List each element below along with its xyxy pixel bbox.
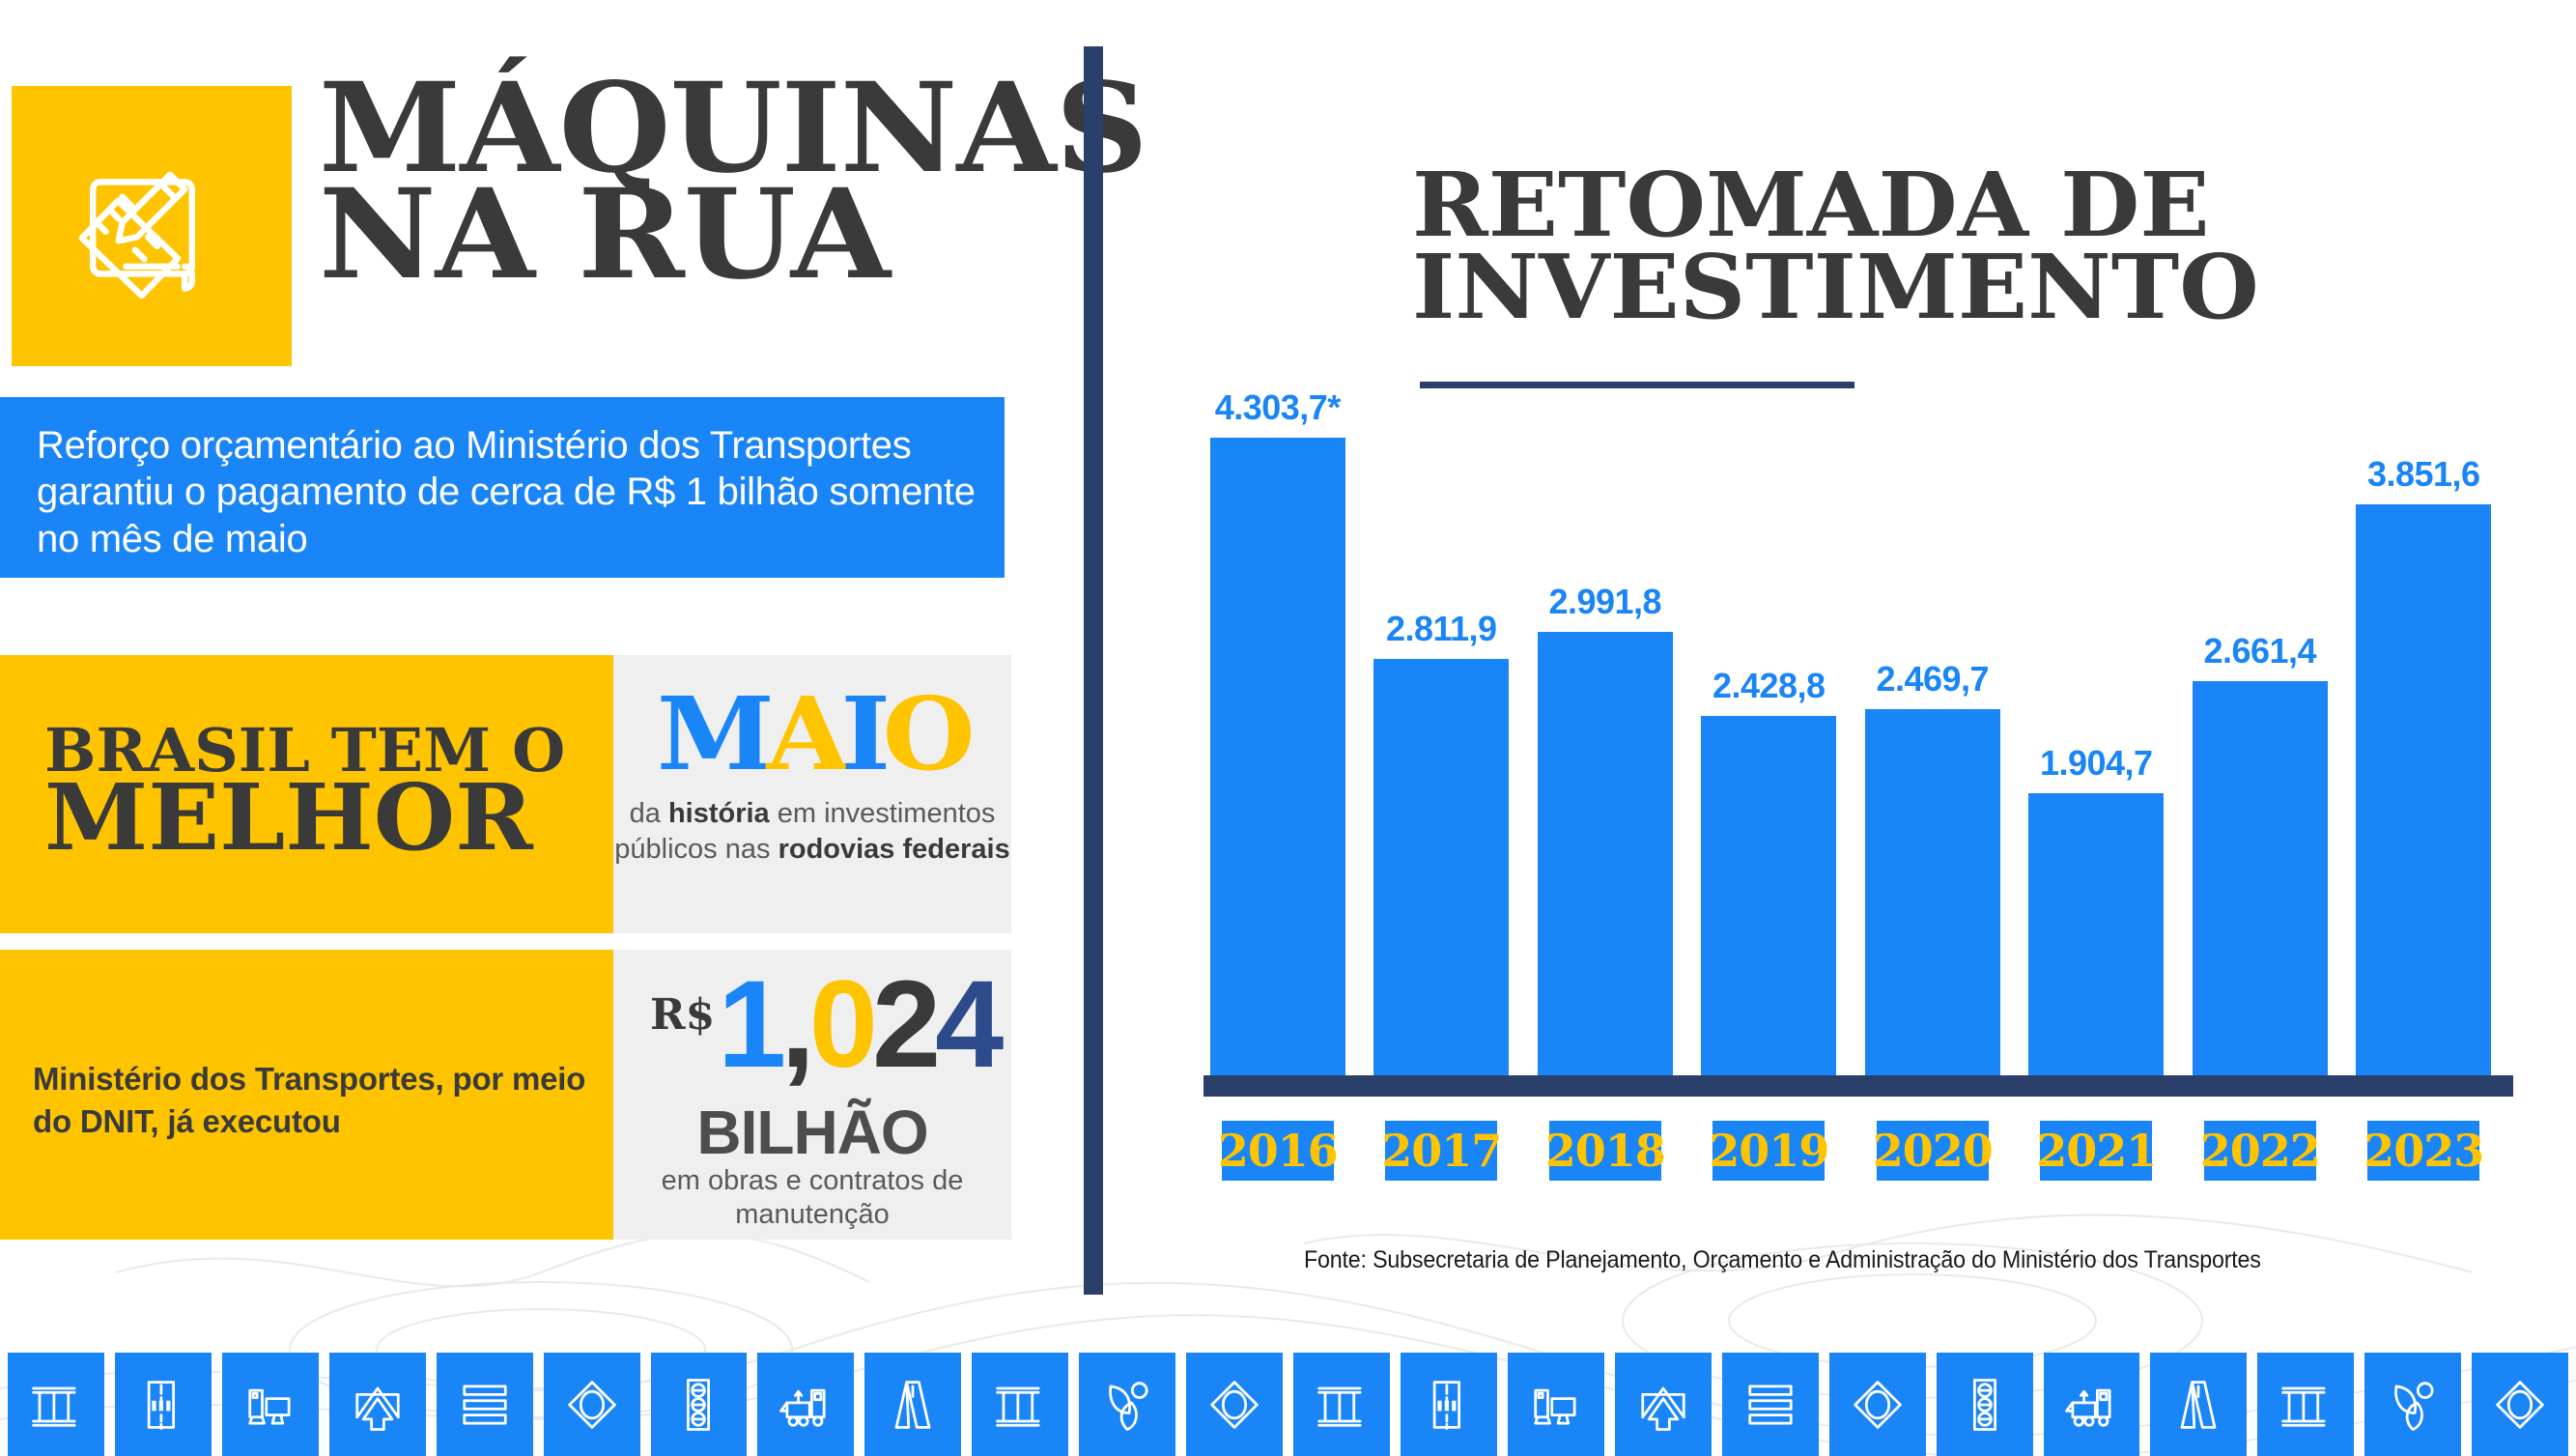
strip-cell-20 bbox=[2150, 1353, 2247, 1456]
maio-sub-bold-2: rodovias federais bbox=[778, 834, 1010, 865]
highlight-banner: Reforço orçamentário ao Ministério dos T… bbox=[0, 397, 1005, 578]
strip-cell-15 bbox=[1615, 1353, 1712, 1456]
bottom-icon-strip bbox=[0, 1353, 2576, 1456]
highlight-banner-text: Reforço orçamentário ao Ministério dos T… bbox=[0, 397, 1005, 562]
bar-value-label-2023: 3.851,6 bbox=[2327, 454, 2520, 495]
vertical-divider bbox=[1084, 46, 1103, 1295]
year-label-2019[interactable]: 2019 bbox=[1713, 1121, 1825, 1181]
ministerio-cell: Ministério dos Transportes, por meio do … bbox=[0, 950, 613, 1240]
bilhao-label: BILHÃO bbox=[613, 1097, 1011, 1168]
valor-cell: R$ 1,024 BILHÃO em obras e contratos de … bbox=[613, 950, 1011, 1240]
big-number-digit-0: 0 bbox=[809, 956, 872, 1094]
strip-cell-12 bbox=[1293, 1353, 1390, 1456]
chart-panel: RETOMADA DE INVESTIMENTO 4.303,7*2.811,9… bbox=[1111, 0, 2576, 1314]
strip-cell-5 bbox=[544, 1353, 640, 1456]
year-label-2018[interactable]: 2018 bbox=[1549, 1121, 1661, 1181]
bar-2022[interactable] bbox=[2193, 681, 2328, 1075]
maio-word-wrap: MAIO bbox=[613, 684, 1011, 785]
year-label-2017[interactable]: 2017 bbox=[1385, 1121, 1497, 1181]
maio-sub-part-1: da bbox=[630, 798, 668, 829]
strip-cell-14 bbox=[1508, 1353, 1604, 1456]
strip-cell-23 bbox=[2472, 1353, 2568, 1456]
big-number-comma: , bbox=[780, 956, 809, 1094]
strip-cell-13 bbox=[1401, 1353, 1497, 1456]
currency-symbol: R$ bbox=[650, 990, 715, 1040]
big-number-digit-1: 1 bbox=[718, 956, 780, 1094]
strip-cell-6 bbox=[651, 1353, 748, 1456]
chart-source-note: Fonte: Subsecretaria de Planejamento, Or… bbox=[1304, 1246, 2261, 1274]
chart-baseline-axis bbox=[1203, 1075, 2513, 1097]
bar-2021[interactable] bbox=[2028, 793, 2164, 1075]
year-label-2020[interactable]: 2020 bbox=[1877, 1121, 1989, 1181]
bar-2019[interactable] bbox=[1701, 716, 1836, 1075]
strip-cell-4 bbox=[437, 1353, 533, 1456]
brasil-melhor-text: BRASIL TEM O MELHOR bbox=[44, 725, 585, 858]
strip-cell-9 bbox=[972, 1353, 1068, 1456]
strip-cell-2 bbox=[222, 1353, 319, 1456]
year-label-2023[interactable]: 2023 bbox=[2367, 1121, 2479, 1181]
brasil-melhor-cell: BRASIL TEM O MELHOR bbox=[0, 655, 613, 933]
stat-row-valor: Ministério dos Transportes, por meio do … bbox=[0, 950, 1011, 1240]
strip-cell-0 bbox=[8, 1353, 104, 1456]
bar-2023[interactable] bbox=[2356, 504, 2491, 1075]
chart-year-labels: 20162017201820192020202120222023 bbox=[1203, 1121, 2513, 1181]
strip-cell-18 bbox=[1937, 1353, 2033, 1456]
strip-cell-21 bbox=[2257, 1353, 2354, 1456]
left-panel: MÁQUINAS NA RUA Reforço orçamentário ao … bbox=[0, 0, 1024, 1295]
strip-cell-17 bbox=[1829, 1353, 1926, 1456]
bar-value-label-2020: 2.469,7 bbox=[1836, 659, 2029, 699]
bar-2017[interactable] bbox=[1373, 659, 1509, 1075]
strip-cell-10 bbox=[1079, 1353, 1175, 1456]
brasil-line-2: MELHOR bbox=[44, 778, 596, 859]
big-number-digit-4: 4 bbox=[935, 956, 998, 1094]
bar-2018[interactable] bbox=[1538, 632, 1673, 1075]
year-label-2021[interactable]: 2021 bbox=[2040, 1121, 2152, 1181]
bar-chart-plot: 4.303,7*2.811,92.991,82.428,82.469,71.90… bbox=[1111, 0, 2576, 1121]
bilhao-subtitle: em obras e contratos de manutenção bbox=[613, 1164, 1011, 1232]
maio-word: MAIO bbox=[657, 684, 967, 785]
ministerio-text: Ministério dos Transportes, por meio do … bbox=[33, 1058, 593, 1143]
maquinas-icon-box bbox=[12, 86, 292, 366]
big-number: 1,024 bbox=[718, 963, 998, 1087]
strip-cell-16 bbox=[1722, 1353, 1819, 1456]
strip-cell-1 bbox=[115, 1353, 212, 1456]
strip-cell-19 bbox=[2044, 1353, 2140, 1456]
strip-cell-22 bbox=[2364, 1353, 2461, 1456]
big-number-digit-2: 2 bbox=[872, 956, 935, 1094]
year-label-2022[interactable]: 2022 bbox=[2204, 1121, 2316, 1181]
strip-cell-11 bbox=[1186, 1353, 1283, 1456]
maio-sub-bold-1: história bbox=[668, 798, 770, 829]
maio-cell: MAIO da história em investimentos públic… bbox=[613, 655, 1011, 933]
bar-value-label-2022: 2.661,4 bbox=[2164, 631, 2357, 671]
strip-cell-7 bbox=[757, 1353, 854, 1456]
strip-cell-8 bbox=[864, 1353, 961, 1456]
stat-row-maio: BRASIL TEM O MELHOR MAIO da história em … bbox=[0, 655, 1011, 933]
bar-2016[interactable] bbox=[1210, 438, 1345, 1075]
year-label-2016[interactable]: 2016 bbox=[1222, 1121, 1334, 1181]
bar-value-label-2018: 2.991,8 bbox=[1509, 582, 1702, 622]
page-title: MÁQUINAS NA RUA bbox=[319, 75, 1042, 288]
bar-value-label-2016: 4.303,7* bbox=[1181, 387, 1374, 428]
maio-subtitle: da história em investimentos públicos na… bbox=[613, 796, 1011, 868]
bar-2020[interactable] bbox=[1865, 709, 2000, 1075]
strip-cell-3 bbox=[329, 1353, 426, 1456]
bar-value-label-2021: 1.904,7 bbox=[1999, 743, 2193, 784]
